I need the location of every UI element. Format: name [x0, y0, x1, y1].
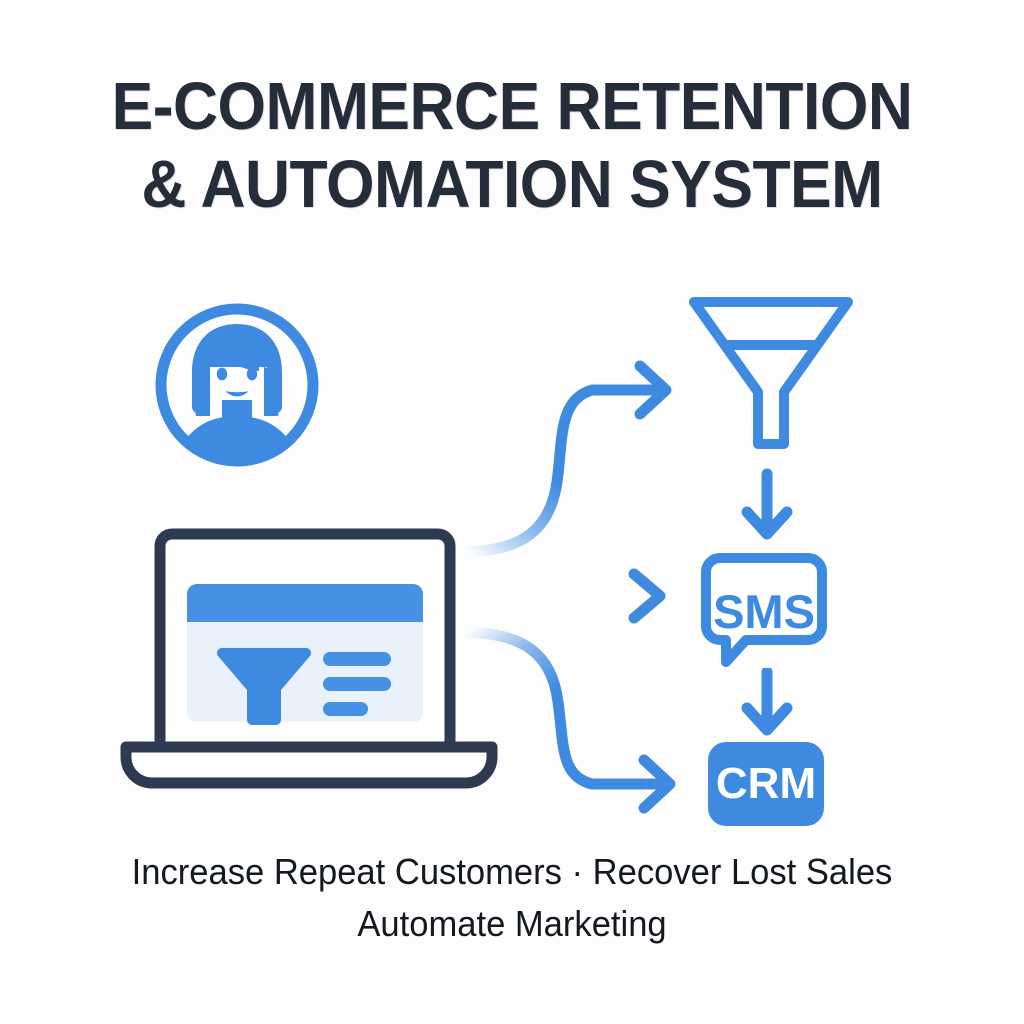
dashboard-card — [187, 584, 423, 725]
laptop-dashboard-icon — [118, 528, 500, 790]
arrow-curve-down-icon — [462, 618, 697, 818]
node-funnel — [680, 288, 862, 458]
laptop-base — [126, 747, 492, 783]
arrow-down-icon — [738, 668, 796, 738]
node-crm: CRM — [706, 740, 826, 828]
user-avatar-icon — [148, 296, 326, 474]
node-dashboard — [118, 528, 500, 790]
arrow-down-icon — [738, 468, 796, 542]
connector-dashboard-to-crm — [462, 618, 697, 823]
node-customer — [148, 296, 326, 474]
subtitle-line-1: Increase Repeat Customers · Recover Lost… — [20, 846, 1003, 898]
funnel-icon — [680, 288, 862, 458]
subtitle-line-2: Automate Marketing — [20, 898, 1003, 950]
node-sms: SMS — [700, 552, 828, 670]
infographic-canvas: E-COMMERCE RETENTION & AUTOMATION SYSTEM — [0, 0, 1024, 1024]
crm-badge-icon — [706, 740, 826, 828]
arrow-curve-up-icon — [462, 342, 692, 562]
subtitle: Increase Repeat Customers · Recover Lost… — [0, 846, 1024, 950]
connector-dashboard-to-funnel — [462, 342, 692, 567]
connector-funnel-to-sms — [738, 468, 796, 547]
arrow-right-icon — [462, 566, 682, 626]
connector-sms-to-crm — [738, 668, 796, 743]
sms-bubble-icon — [700, 552, 828, 670]
